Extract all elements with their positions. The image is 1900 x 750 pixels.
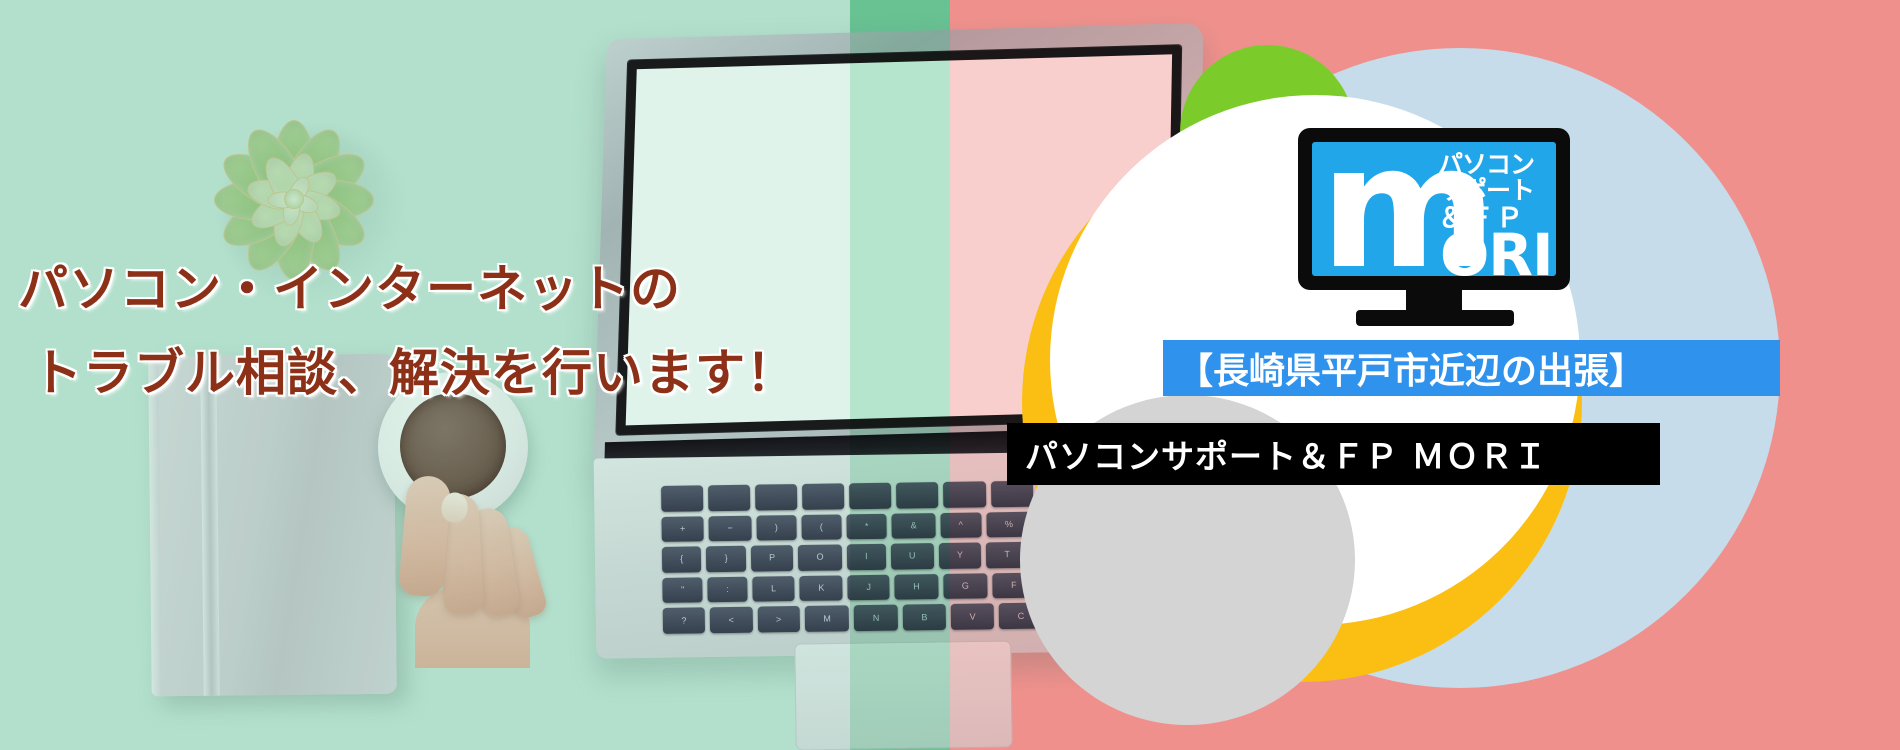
company-name-banner: パソコンサポート＆ＦＰ ＭＯＲＩ — [1007, 423, 1660, 485]
keyboard-key — [755, 484, 797, 510]
keyboard-key: P — [751, 545, 794, 571]
service-area-banner-text: 【長崎県平戸市近辺の出張】 — [1177, 342, 1645, 394]
keyboard-key: ^ — [940, 512, 982, 538]
keyboard-key: } — [706, 546, 746, 572]
keyboard-key — [943, 481, 985, 507]
keyboard-key: N — [854, 605, 898, 631]
keyboard-key: ( — [801, 514, 841, 540]
headline-line-2: トラブル相談、解決を行います！ — [32, 331, 797, 415]
keyboard-key: V — [951, 604, 994, 630]
hand — [375, 468, 545, 653]
keyboard-key: U — [891, 543, 934, 569]
keyboard-key: + — [661, 516, 704, 542]
keyboard-key: ? — [663, 608, 705, 634]
monitor-screen: m パソコン サポート ＆ＦＰ ORI — [1312, 142, 1556, 276]
keyboard-key: M — [805, 606, 850, 632]
page-title: パソコン・インターネットの トラブル相談、解決を行います！ — [18, 247, 797, 415]
keyboard-key: K — [800, 575, 844, 601]
keyboard-key: I — [847, 544, 886, 570]
keyboard-key: Y — [939, 543, 982, 569]
keyboard-key: : — [708, 577, 748, 603]
keyboard-key: { — [662, 547, 702, 573]
keyboard-key: G — [943, 573, 988, 599]
keyboard-key: > — [757, 606, 800, 632]
keyboard-key: J — [848, 575, 890, 601]
keyboard-key: & — [892, 513, 935, 539]
keyboard-key — [708, 485, 750, 511]
keyboard-key: " — [662, 577, 703, 603]
logo-wordmark-ori: ORI — [1440, 230, 1553, 276]
logo-jp-line2: サポート — [1438, 178, 1554, 204]
keyboard-key: H — [894, 574, 938, 600]
keyboard-key — [896, 482, 938, 508]
keyboard-key: < — [710, 607, 753, 633]
keyboard-key: O — [798, 545, 842, 571]
keyboard-key: L — [752, 576, 795, 602]
monitor-icon: m パソコン サポート ＆ＦＰ ORI — [1298, 128, 1570, 290]
headline-line-1: パソコン・インターネットの — [18, 247, 797, 331]
keyboard-key: B — [903, 604, 946, 630]
laptop-trackpad — [794, 640, 1012, 750]
service-area-banner: 【長崎県平戸市近辺の出張】 — [1163, 340, 1780, 396]
keyboard-key — [849, 483, 891, 509]
keyboard-key: * — [846, 513, 887, 539]
brand-logo[interactable]: m パソコン サポート ＆ＦＰ ORI — [1298, 128, 1588, 333]
keyboard-key: − — [709, 515, 752, 541]
monitor-stand-base — [1356, 310, 1514, 326]
keyboard-key: ) — [756, 515, 796, 541]
company-name-banner-text: パソコンサポート＆ＦＰ ＭＯＲＩ — [1025, 430, 1548, 478]
keyboard-key — [661, 485, 703, 511]
logo-jp-line1: パソコン — [1438, 152, 1554, 178]
hero-banner: +−)(*&^%$#@! {}POIUYTREWQ ":LKJHGFDSA ?<… — [0, 0, 1900, 750]
keyboard-key — [802, 483, 844, 509]
succulent-center — [284, 189, 304, 209]
